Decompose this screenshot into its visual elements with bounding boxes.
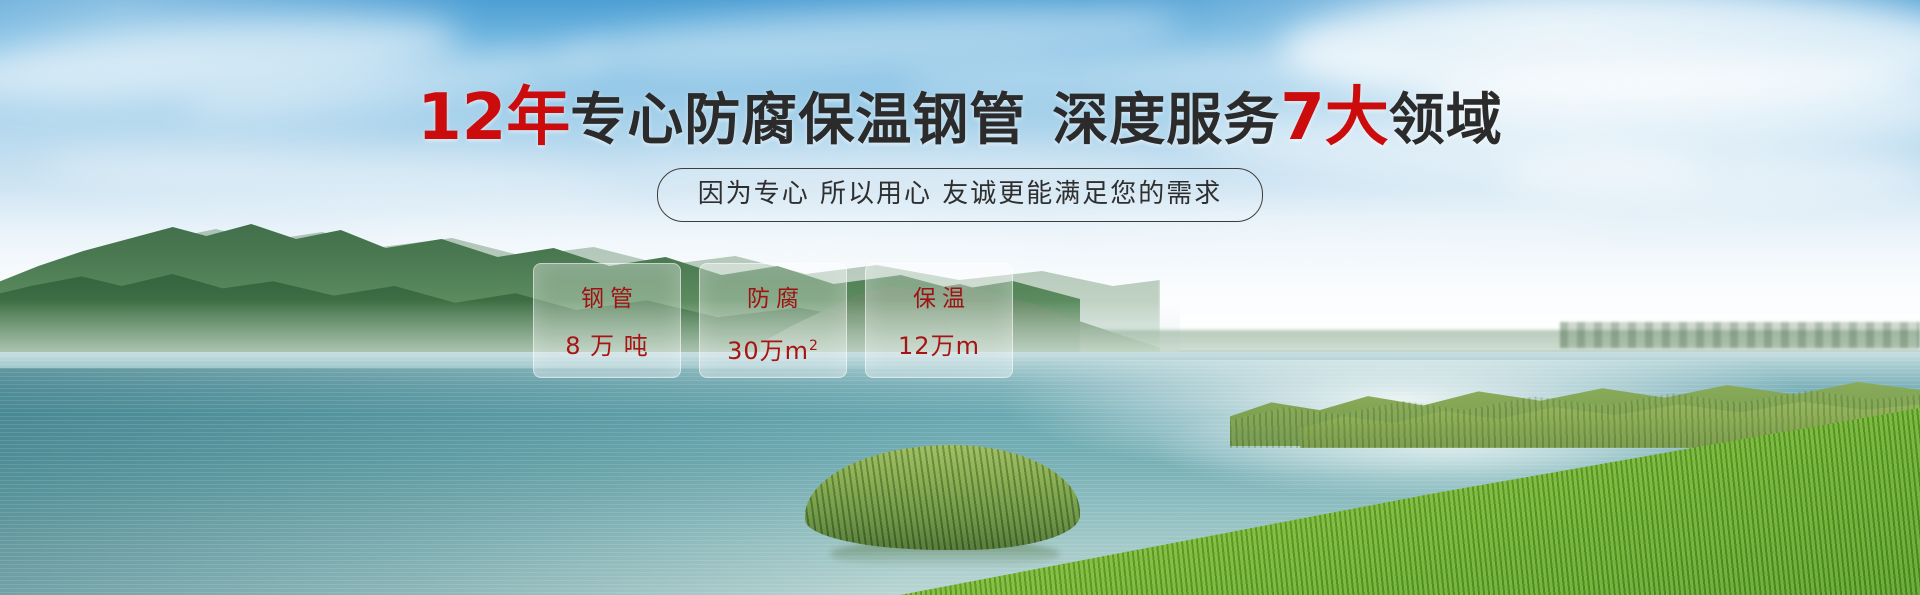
headline-years-number: 12 <box>417 81 506 155</box>
headline-fields-suffix: 大 <box>1325 81 1389 155</box>
stat-card-anticorrosion[interactable]: 防腐 30万m2 <box>699 263 847 378</box>
stat-card-list: 钢管 8 万 吨 防腐 30万m2 保温 12万m <box>533 263 1013 378</box>
stat-card-insulation[interactable]: 保温 12万m <box>865 263 1013 378</box>
stat-card-steel-pipe[interactable]: 钢管 8 万 吨 <box>533 263 681 378</box>
banner-subtitle-wrapper: 因为专心 所以用心 友诚更能满足您的需求 <box>0 168 1920 222</box>
banner-subtitle: 因为专心 所以用心 友诚更能满足您的需求 <box>657 168 1264 222</box>
headline-service-text: 深度服务 <box>1052 88 1280 153</box>
stat-card-value-base: 8 万 吨 <box>565 332 649 360</box>
stat-card-title: 钢管 <box>575 286 639 312</box>
stat-card-value: 12万m <box>898 332 980 360</box>
banner-headline: 12年专心防腐保温钢管深度服务7大领域 <box>0 88 1920 151</box>
stat-card-value: 8 万 吨 <box>565 332 649 360</box>
stat-card-value: 30万m2 <box>727 332 819 365</box>
stat-card-title: 防腐 <box>741 286 805 312</box>
stat-card-value-base: 12万m <box>898 332 980 360</box>
stat-card-title: 保温 <box>907 286 971 312</box>
banner-content: 12年专心防腐保温钢管深度服务7大领域 因为专心 所以用心 友诚更能满足您的需求… <box>0 0 1920 595</box>
headline-main-text: 专心防腐保温钢管 <box>570 88 1026 153</box>
headline-fields-number: 7 <box>1280 81 1325 155</box>
headline-fields-tail: 领域 <box>1389 88 1503 153</box>
headline-years-unit: 年 <box>506 81 570 155</box>
hero-banner: 12年专心防腐保温钢管深度服务7大领域 因为专心 所以用心 友诚更能满足您的需求… <box>0 0 1920 595</box>
stat-card-value-superscript: 2 <box>809 338 819 354</box>
stat-card-value-base: 30万m <box>727 337 809 365</box>
